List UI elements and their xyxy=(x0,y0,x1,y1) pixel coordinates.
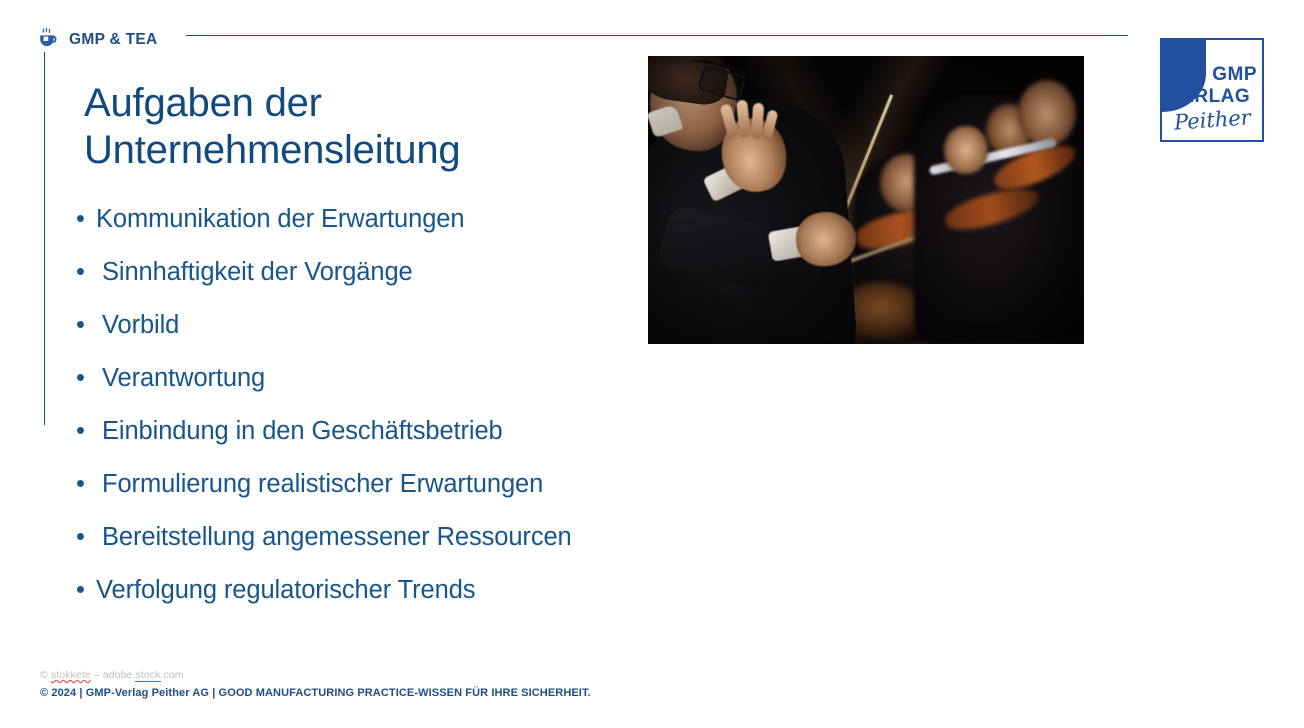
left-accent-divider xyxy=(44,52,45,425)
slide: GMP & TEA Aufgaben der Unternehmensleitu… xyxy=(0,0,1304,728)
list-item-label: Formulierung realistischer Erwartungen xyxy=(96,470,776,499)
logo-text-gmp: GMP xyxy=(1212,65,1257,84)
credit-stock-link[interactable]: stock xyxy=(135,669,160,682)
list-item: • Formulierung realistischer Erwartungen xyxy=(76,470,776,523)
teacup-icon xyxy=(38,28,64,52)
list-item: • Verfolgung regulatorischer Trends xyxy=(76,576,776,629)
list-item: • Bereitstellung angemessener Ressourcen xyxy=(76,523,776,576)
bullet-marker: • xyxy=(76,472,96,498)
bullet-marker: • xyxy=(76,366,96,392)
image-credit: © stokkete – adobe.stock.com xyxy=(40,669,184,681)
orchestra-photo xyxy=(648,56,1084,344)
copyright-line: © 2024 | GMP-Verlag Peither AG | GOOD MA… xyxy=(40,687,591,699)
list-item-label: Bereitstellung angemessener Ressourcen xyxy=(96,523,776,552)
photo-vignette xyxy=(648,56,1084,344)
bullet-marker: • xyxy=(76,313,96,339)
header-divider xyxy=(186,35,1128,36)
list-item: • Verantwortung xyxy=(76,364,776,417)
list-item: • Einbindung in den Geschäftsbetrieb xyxy=(76,417,776,470)
list-item-label: Verantwortung xyxy=(96,364,776,393)
header-label: GMP & TEA xyxy=(69,31,158,49)
bullet-marker: • xyxy=(76,207,96,233)
gmp-verlag-logo: GMP VERLAG Peither xyxy=(1160,38,1264,142)
bullet-marker: • xyxy=(76,578,96,604)
logo-text-verlag: VERLAG xyxy=(1168,87,1250,106)
slide-header: GMP & TEA xyxy=(38,28,1138,52)
bullet-marker: • xyxy=(76,419,96,445)
credit-separator: – adobe. xyxy=(91,669,136,681)
bullet-marker: • xyxy=(76,260,96,286)
bullet-marker: • xyxy=(76,525,96,551)
list-item-label: Verfolgung regulatorischer Trends xyxy=(96,576,776,605)
credit-domain-tail: .com xyxy=(161,669,184,681)
credit-author: stokkete xyxy=(51,669,91,681)
credit-copyright-symbol: © xyxy=(40,669,48,681)
list-item-label: Einbindung in den Geschäftsbetrieb xyxy=(96,417,776,446)
page-title: Aufgaben der Unternehmensleitung xyxy=(84,80,624,174)
